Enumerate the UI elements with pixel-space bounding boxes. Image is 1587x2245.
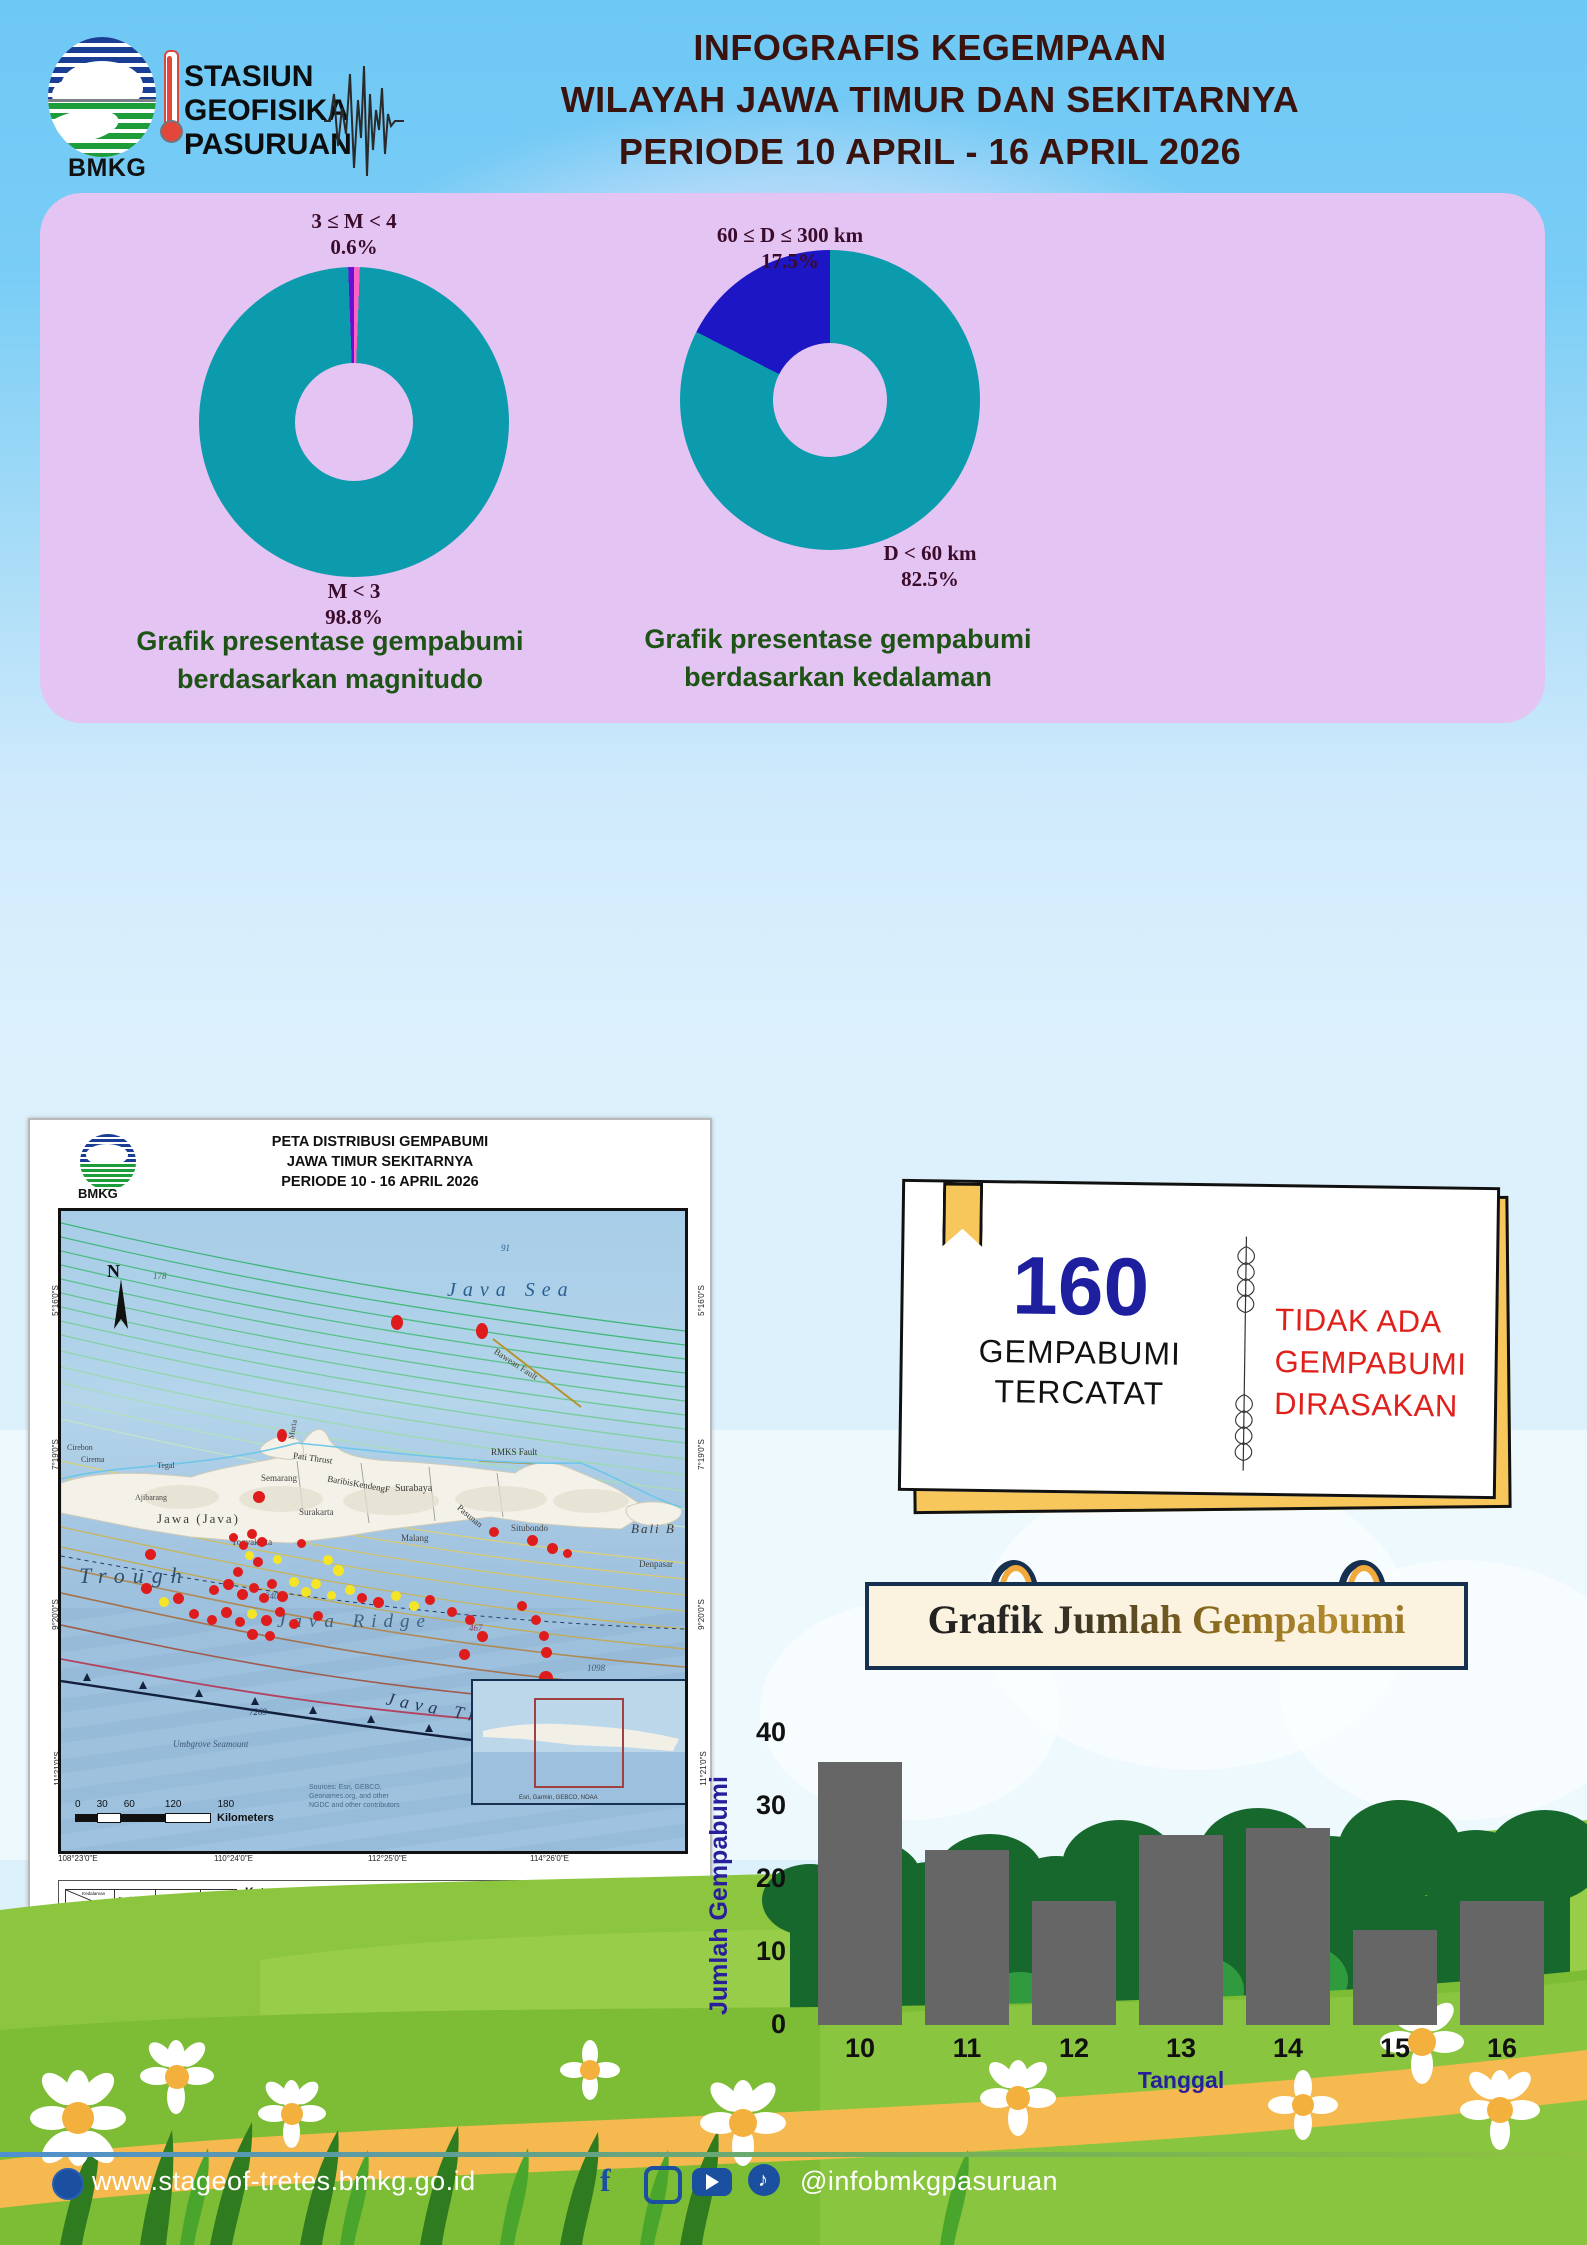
depth-donut-chart xyxy=(680,250,980,550)
epicenter-marker xyxy=(247,1529,257,1539)
map-label-umbgrove-seamount: Umbgrove Seamount xyxy=(173,1739,248,1749)
bmkg-wordmark: BMKG xyxy=(68,154,146,183)
epicenter-marker xyxy=(253,1557,263,1567)
magnitude-chart-caption: Grafik presentase gempabumi berdasarkan … xyxy=(70,622,590,698)
bar-chart-y-tick: 0 xyxy=(730,2009,786,2040)
epicenter-marker xyxy=(253,1491,265,1503)
epicenter-marker xyxy=(373,1597,384,1608)
epicenter-marker xyxy=(267,1579,277,1589)
epicenter-marker xyxy=(173,1593,184,1604)
epicenter-marker xyxy=(391,1591,401,1601)
footer-handle[interactable]: @infobmkgpasuruan xyxy=(800,2166,1058,2197)
epicenter-marker xyxy=(239,1541,248,1550)
epicenter-marker xyxy=(465,1615,475,1625)
bar-chart-y-tick: 20 xyxy=(730,1863,786,1894)
epicenter-marker xyxy=(247,1629,258,1640)
bar-12[interactable] xyxy=(1032,1901,1116,2025)
earthquake-count: 160 xyxy=(955,1245,1206,1330)
epicenter-marker xyxy=(477,1631,488,1642)
map-canvas[interactable]: Java Sea Trough Java Ridge Java Trench B… xyxy=(58,1208,688,1854)
map-lat-label: 9°20'0"S xyxy=(51,1599,60,1630)
map-bmkg-logo-icon: BMKG xyxy=(80,1134,138,1200)
epicenter-marker xyxy=(345,1585,355,1595)
map-city-bali: Bali B xyxy=(631,1521,676,1537)
facebook-icon[interactable]: f xyxy=(600,2164,630,2196)
epicenter-marker xyxy=(275,1607,285,1617)
map-lat-label-right: 7°19'0"S xyxy=(697,1439,706,1470)
epicenter-marker xyxy=(277,1591,288,1602)
map-header: BMKG PETA DISTRIBUSI GEMPABUMI JAWA TIMU… xyxy=(30,1124,710,1202)
bar-11[interactable] xyxy=(925,1850,1009,2025)
earthquake-count-label: GEMPABUMI TERCATAT xyxy=(938,1330,1221,1414)
epicenter-marker xyxy=(409,1601,419,1611)
summary-card: 160 GEMPABUMI TERCATAT TIDAK ADA GEMPABU… xyxy=(900,1175,1510,1515)
bar-chart-x-tick: 14 xyxy=(1246,2033,1330,2064)
epicenter-marker xyxy=(249,1583,259,1593)
bar-13[interactable] xyxy=(1139,1835,1223,2025)
map-inset: Esri, Garmin, GEBCO, NOAA xyxy=(471,1679,687,1805)
epicenter-marker xyxy=(145,1549,156,1560)
depth-top-label: 60 ≤ D ≤ 300 km 17.5% xyxy=(640,222,940,274)
map-contour-number-178: 178 xyxy=(153,1271,167,1281)
epicenter-marker xyxy=(357,1593,367,1603)
map-contour-number-7269: 7269 xyxy=(249,1707,267,1717)
bar-10[interactable] xyxy=(818,1762,902,2025)
depth-chart-caption: Grafik presentase gempabumi berdasarkan … xyxy=(578,620,1098,696)
map-contour-number-91: 91 xyxy=(501,1243,510,1253)
epicenter-marker xyxy=(391,1315,403,1330)
felt-earthquake-message: TIDAK ADA GEMPABUMI DIRASAKAN xyxy=(1274,1299,1496,1428)
daisy-flower xyxy=(560,2040,620,2100)
epicenter-marker xyxy=(237,1589,248,1600)
bar-chart-banner: Grafik Jumlah Gempabumi xyxy=(865,1582,1468,1670)
map-city-cirema: Cirema xyxy=(81,1455,105,1464)
epicenter-marker xyxy=(141,1583,152,1594)
wheat-divider-icon xyxy=(1223,1228,1266,1479)
epicenter-marker xyxy=(229,1533,238,1542)
svg-text:N: N xyxy=(107,1261,120,1281)
bmkg-emblem-icon xyxy=(48,37,156,157)
map-contour-number-1098: 1098 xyxy=(587,1663,605,1673)
map-city-surabaya: Surabaya xyxy=(395,1483,432,1494)
daisy-flower xyxy=(258,2080,326,2148)
epicenter-marker xyxy=(447,1607,457,1617)
youtube-play-triangle-icon xyxy=(706,2174,719,2190)
map-label-java-sea: Java Sea xyxy=(447,1279,575,1302)
bar-chart-x-tick: 11 xyxy=(925,2033,1009,2064)
globe-icon xyxy=(52,2168,84,2200)
epicenter-marker xyxy=(261,1615,272,1626)
bar-chart-x-tick: 13 xyxy=(1139,2033,1223,2064)
daisy-flower xyxy=(140,2040,214,2114)
bar-chart-y-tick: 40 xyxy=(730,1717,786,1748)
epicenter-marker xyxy=(159,1597,169,1607)
bar-chart-x-tick: 16 xyxy=(1460,2033,1544,2064)
map-lat-label: 7°19'0"S xyxy=(51,1439,60,1470)
epicenter-marker xyxy=(489,1527,499,1537)
map-lat-label: 11°21'0"S xyxy=(53,1751,62,1786)
map-lat-label: 5°16'0"S xyxy=(51,1285,60,1316)
north-arrow-icon: N xyxy=(105,1259,139,1335)
map-city-denpasar: Denpasar xyxy=(639,1559,673,1569)
epicenter-marker xyxy=(297,1539,306,1548)
bar-chart-y-tick: 10 xyxy=(730,1936,786,1967)
bar-chart-x-tick: 15 xyxy=(1353,2033,1437,2064)
epicenter-marker xyxy=(289,1619,299,1629)
map-label-rmks-fault: RMKS Fault xyxy=(491,1447,537,1457)
map-label-trough: Trough xyxy=(79,1563,190,1589)
bar-chart-plot-area xyxy=(806,1733,1556,2025)
epicenter-marker xyxy=(289,1577,299,1587)
title-line-1: INFOGRAFIS KEGEMPAAN xyxy=(330,22,1530,74)
epicenter-marker xyxy=(265,1631,275,1641)
epicenter-marker xyxy=(531,1615,541,1625)
epicenter-marker xyxy=(233,1567,243,1577)
depth-bottom-label: D < 60 km 82.5% xyxy=(780,540,1080,592)
thermometer-icon xyxy=(158,50,180,150)
map-city-cirebon: Cirebon xyxy=(67,1443,93,1452)
epicenter-marker xyxy=(207,1615,217,1625)
epicenter-marker xyxy=(245,1551,254,1560)
bar-14[interactable] xyxy=(1246,1828,1330,2025)
epicenter-marker xyxy=(541,1647,552,1658)
epicenter-marker xyxy=(311,1579,321,1589)
epicenter-marker xyxy=(476,1323,488,1339)
footer-divider xyxy=(0,2152,1587,2157)
bar-chart-x-tick: 10 xyxy=(818,2033,902,2064)
epicenter-marker xyxy=(459,1649,470,1660)
epicenter-marker xyxy=(333,1565,344,1576)
earthquake-count-bar-chart: Jumlah Gempabumi 40 30 20 10 0 10 11 12 … xyxy=(700,1715,1570,2095)
epicenter-marker xyxy=(517,1601,527,1611)
bar-chart-x-axis-label: Tanggal xyxy=(806,2067,1556,2094)
epicenter-marker xyxy=(209,1585,219,1595)
map-label-java-ridge: Java Ridge xyxy=(277,1611,432,1633)
epicenter-marker xyxy=(323,1555,333,1565)
map-city-surakarta: Surakarta xyxy=(299,1507,333,1517)
title-line-2: WILAYAH JAWA TIMUR DAN SEKITARNYA xyxy=(330,74,1530,126)
map-city-situbondo: Situbondo xyxy=(511,1523,548,1533)
epicenter-marker xyxy=(301,1587,311,1597)
epicenter-marker xyxy=(235,1617,245,1627)
epicenter-marker xyxy=(273,1555,282,1564)
epicenter-marker xyxy=(223,1579,234,1590)
epicenter-marker xyxy=(527,1535,538,1546)
title-line-3: PERIODE 10 APRIL - 16 APRIL 2026 xyxy=(330,126,1530,178)
map-city-tegal: Tegal xyxy=(157,1461,175,1470)
instagram-icon[interactable] xyxy=(644,2166,682,2204)
page-title: INFOGRAFIS KEGEMPAAN WILAYAH JAWA TIMUR … xyxy=(330,22,1530,178)
map-city-ajibarang: Ajibarang xyxy=(135,1493,167,1502)
epicenter-marker xyxy=(259,1593,269,1603)
map-city-semarang: Semarang xyxy=(261,1473,297,1483)
epicenter-marker xyxy=(563,1549,572,1558)
epicenter-marker xyxy=(539,1631,549,1641)
bar-15[interactable] xyxy=(1353,1930,1437,2025)
map-lat-label-right: 5°16'0"S xyxy=(697,1285,706,1316)
epicenter-marker xyxy=(189,1609,199,1619)
epicenter-marker xyxy=(257,1537,267,1547)
bar-chart-y-tick: 30 xyxy=(730,1790,786,1821)
epicenter-marker xyxy=(221,1607,232,1618)
banner-title: Grafik Jumlah Gempabumi xyxy=(869,1596,1464,1643)
map-label-jawa-java: Jawa (Java) xyxy=(157,1511,240,1527)
magnitude-donut-chart xyxy=(199,267,509,577)
bar-chart-x-tick: 12 xyxy=(1032,2033,1116,2064)
map-title: PETA DISTRIBUSI GEMPABUMI JAWA TIMUR SEK… xyxy=(150,1132,610,1192)
epicenter-marker xyxy=(277,1429,287,1442)
tiktok-note-icon: ♪ xyxy=(758,2170,768,2190)
epicenter-marker xyxy=(547,1543,558,1554)
map-bmkg-wordmark: BMKG xyxy=(78,1186,118,1201)
summary-card-front: 160 GEMPABUMI TERCATAT TIDAK ADA GEMPABU… xyxy=(898,1179,1500,1499)
epicenter-marker xyxy=(313,1611,323,1621)
epicenter-marker xyxy=(425,1595,435,1605)
bar-16[interactable] xyxy=(1460,1901,1544,2025)
epicenter-marker xyxy=(327,1591,336,1600)
map-city-malang: Malang xyxy=(401,1533,429,1543)
bookmark-icon xyxy=(942,1182,983,1247)
epicenter-marker xyxy=(247,1609,257,1619)
magnitude-top-label: 3 ≤ M < 4 0.6% xyxy=(204,208,504,260)
map-lat-label-right: 9°20'0"S xyxy=(697,1599,706,1630)
footer-website[interactable]: www.stageof-tretes.bmkg.go.id xyxy=(92,2166,476,2197)
